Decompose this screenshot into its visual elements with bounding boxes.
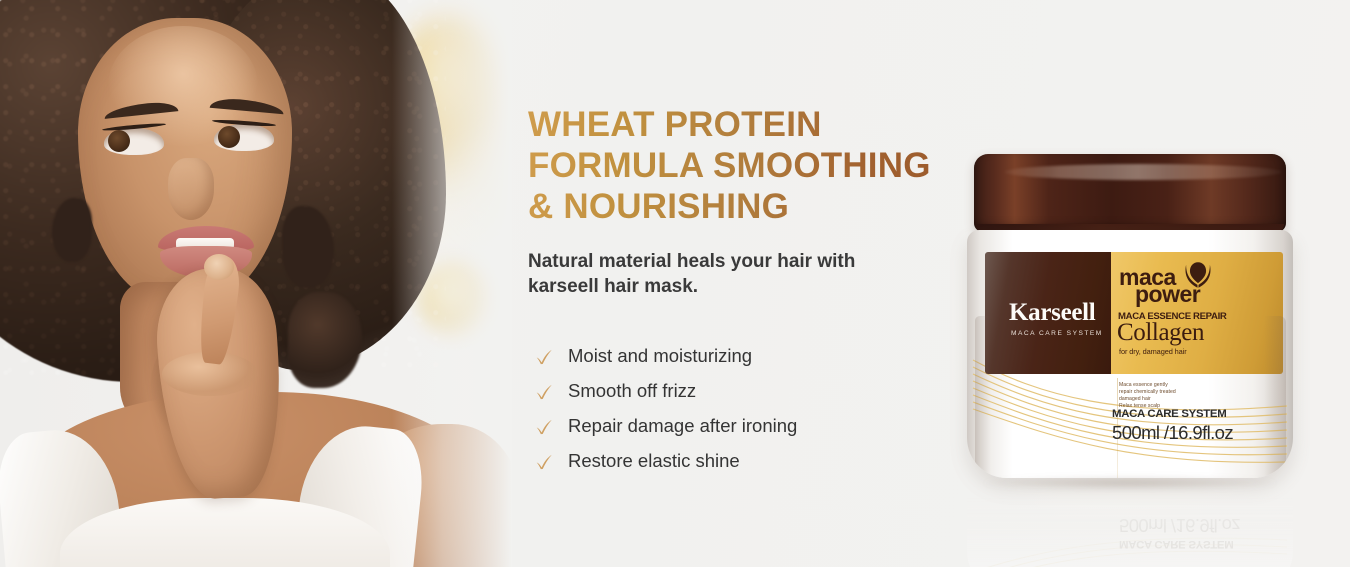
brand-name: Karseell bbox=[1009, 300, 1121, 325]
benefit-list: Moist and moisturizing Smooth off frizz … bbox=[528, 339, 958, 479]
check-icon bbox=[534, 347, 554, 367]
jar-right-shading bbox=[1264, 316, 1286, 478]
check-icon bbox=[534, 452, 554, 472]
copy-block: WHEAT PROTEIN FORMULA SMOOTHING & NOURIS… bbox=[528, 104, 958, 479]
list-item-label: Moist and moisturizing bbox=[568, 347, 752, 366]
fingertip-at-lips bbox=[204, 254, 234, 280]
product-subtitle: for dry, damaged hair bbox=[1119, 347, 1187, 356]
jar-mirror-reflection: MACA CARE SYSTEM 500ml /16.9fl.oz bbox=[967, 482, 1293, 567]
iris-left bbox=[108, 130, 130, 152]
lid-gloss-highlight bbox=[1004, 164, 1282, 180]
reflection-volume-label: 500ml /16.9fl.oz bbox=[1119, 514, 1240, 536]
jar-lid bbox=[974, 154, 1286, 232]
list-item-label: Repair damage after ironing bbox=[568, 417, 797, 436]
product-banner: WHEAT PROTEIN FORMULA SMOOTHING & NOURIS… bbox=[0, 0, 1350, 567]
list-item-label: Restore elastic shine bbox=[568, 452, 740, 471]
brand-tagline: MACA CARE SYSTEM bbox=[1011, 330, 1123, 337]
list-item: Repair damage after ironing bbox=[528, 409, 958, 444]
list-item: Moist and moisturizing bbox=[528, 339, 958, 374]
model-photo-panel bbox=[0, 0, 512, 567]
product-label-panel: maca power MACA ESSENCE REPAIR Collagen … bbox=[1111, 252, 1283, 374]
check-icon bbox=[534, 417, 554, 437]
care-system-label: MACA CARE SYSTEM bbox=[1112, 408, 1226, 420]
list-item: Restore elastic shine bbox=[528, 444, 958, 479]
volume-label: 500ml /16.9fl.oz bbox=[1112, 422, 1233, 444]
karseell-collagen-hair-mask-jar[interactable]: Karseell ® MACA CARE SYSTEM maca power M… bbox=[960, 146, 1300, 566]
brand-label-panel: Karseell ® MACA CARE SYSTEM bbox=[985, 252, 1111, 374]
product-fineprint: Maca essence gently repair chemically tr… bbox=[1119, 382, 1215, 410]
product-title: Collagen bbox=[1117, 320, 1204, 345]
front-curl-lower-right bbox=[288, 292, 362, 388]
iris-right bbox=[218, 126, 240, 148]
photo-edge-fade bbox=[392, 0, 512, 567]
nose bbox=[168, 158, 214, 220]
reflection-care-system-label: MACA CARE SYSTEM bbox=[1119, 538, 1233, 550]
list-item-label: Smooth off frizz bbox=[568, 382, 696, 401]
power-wordmark: power bbox=[1135, 283, 1200, 306]
check-icon bbox=[534, 382, 554, 402]
jar-left-shading bbox=[975, 316, 991, 478]
list-item: Smooth off frizz bbox=[528, 374, 958, 409]
front-curl-left bbox=[52, 198, 92, 262]
page-title: WHEAT PROTEIN FORMULA SMOOTHING & NOURIS… bbox=[528, 104, 958, 227]
subheadline: Natural material heals your hair with ka… bbox=[528, 249, 958, 299]
